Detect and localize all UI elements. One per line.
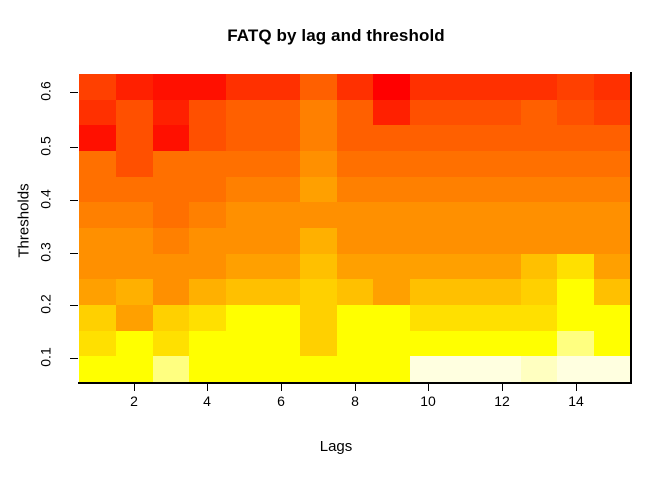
heatmap-cell <box>447 254 484 280</box>
heatmap-cell <box>447 177 484 203</box>
heatmap-cell <box>263 305 300 331</box>
heatmap-cell <box>153 151 190 177</box>
heatmap-cell <box>153 305 190 331</box>
heatmap-cell <box>521 125 558 151</box>
y-axis-tick <box>70 200 78 201</box>
heatmap-cell <box>300 151 337 177</box>
y-axis-tick <box>70 305 78 306</box>
heatmap-cell <box>263 100 300 126</box>
x-axis-tick <box>428 383 429 391</box>
heatmap-cell <box>410 228 447 254</box>
heatmap-cell <box>226 202 263 228</box>
heatmap-cell <box>79 151 116 177</box>
heatmap-cell <box>447 151 484 177</box>
heatmap-cell <box>337 74 374 100</box>
heatmap-cell <box>226 228 263 254</box>
heatmap-cell <box>300 356 337 382</box>
heatmap-cell <box>484 254 521 280</box>
heatmap-cell <box>116 100 153 126</box>
heatmap-cell <box>594 356 631 382</box>
heatmap-cell <box>79 74 116 100</box>
heatmap-cell <box>521 356 558 382</box>
heatmap-cell <box>189 100 226 126</box>
heatmap-cell <box>484 331 521 357</box>
heatmap-cell <box>116 356 153 382</box>
heatmap-cell <box>116 279 153 305</box>
heatmap-cell <box>116 125 153 151</box>
heatmap-cell <box>226 125 263 151</box>
heatmap-cell <box>373 305 410 331</box>
heatmap-cell <box>116 228 153 254</box>
heatmap-cell <box>373 228 410 254</box>
heatmap-cell <box>153 177 190 203</box>
heatmap-cell <box>300 305 337 331</box>
heatmap-cell <box>594 125 631 151</box>
y-axis-tick <box>70 358 78 359</box>
heatmap-cell <box>116 177 153 203</box>
heatmap-cell <box>557 331 594 357</box>
y-axis-tick-label: 0.1 <box>26 349 66 365</box>
heatmap-cell <box>226 177 263 203</box>
heatmap-cell <box>521 151 558 177</box>
heatmap-cell <box>189 279 226 305</box>
heatmap-cell <box>410 177 447 203</box>
heatmap-cell <box>263 177 300 203</box>
heatmap-cell <box>189 254 226 280</box>
heatmap-cell <box>337 228 374 254</box>
heatmap-cell <box>116 74 153 100</box>
y-axis-tick <box>70 253 78 254</box>
heatmap-cell <box>410 356 447 382</box>
heatmap-cell <box>521 100 558 126</box>
heatmap-cell <box>300 331 337 357</box>
heatmap-cell <box>79 331 116 357</box>
heatmap-cell <box>594 74 631 100</box>
heatmap-cell <box>557 228 594 254</box>
x-axis-tick <box>355 383 356 391</box>
x-axis-tick-label: 2 <box>114 393 154 409</box>
heatmap-cell <box>447 331 484 357</box>
heatmap-cell <box>373 202 410 228</box>
heatmap-cell <box>410 254 447 280</box>
panel-right-border <box>630 72 632 384</box>
heatmap-cell <box>189 356 226 382</box>
heatmap-cell <box>410 100 447 126</box>
heatmap-cell <box>521 279 558 305</box>
x-axis-tick-label: 10 <box>408 393 448 409</box>
heatmap-cell <box>300 228 337 254</box>
heatmap-cell <box>263 331 300 357</box>
heatmap-cell <box>300 177 337 203</box>
heatmap-cell <box>153 74 190 100</box>
heatmap-cell <box>79 228 116 254</box>
heatmap-cell <box>484 356 521 382</box>
heatmap-cell <box>521 74 558 100</box>
heatmap-cell <box>410 279 447 305</box>
x-axis-tick <box>502 383 503 391</box>
heatmap-cell <box>557 151 594 177</box>
heatmap-cell <box>263 125 300 151</box>
heatmap-cell <box>153 228 190 254</box>
heatmap-cell <box>79 125 116 151</box>
heatmap-cell <box>373 279 410 305</box>
heatmap-cell <box>153 279 190 305</box>
heatmap-cell <box>116 202 153 228</box>
heatmap-cell <box>116 254 153 280</box>
heatmap-panel <box>79 74 631 382</box>
heatmap-cell <box>189 151 226 177</box>
heatmap-cell <box>557 202 594 228</box>
heatmap-cell <box>337 151 374 177</box>
heatmap-cell <box>337 356 374 382</box>
y-axis-tick-label: 0.6 <box>26 83 66 99</box>
x-axis-title: Lags <box>0 438 672 455</box>
x-axis-tick <box>134 383 135 391</box>
heatmap-cell <box>79 100 116 126</box>
y-axis-tick <box>70 147 78 148</box>
heatmap-cell <box>484 125 521 151</box>
heatmap-cell <box>263 74 300 100</box>
heatmap-cell <box>521 177 558 203</box>
heatmap-cell <box>79 279 116 305</box>
heatmap-cell <box>410 331 447 357</box>
heatmap-cell <box>337 331 374 357</box>
heatmap-cell <box>557 74 594 100</box>
y-axis-title: Thresholds <box>16 141 33 301</box>
heatmap-cell <box>337 100 374 126</box>
page-title: FATQ by lag and threshold <box>0 26 672 46</box>
heatmap-cell <box>79 177 116 203</box>
heatmap-cell <box>189 74 226 100</box>
heatmap-cell <box>300 279 337 305</box>
x-axis-tick-label: 14 <box>556 393 596 409</box>
heatmap-cell <box>300 100 337 126</box>
heatmap-cell <box>337 254 374 280</box>
heatmap-cell <box>410 202 447 228</box>
heatmap-cell <box>521 202 558 228</box>
heatmap-cell <box>594 202 631 228</box>
heatmap-cell <box>153 202 190 228</box>
heatmap-cell <box>373 356 410 382</box>
heatmap-cell <box>373 177 410 203</box>
heatmap-cell <box>594 305 631 331</box>
heatmap-cell <box>373 331 410 357</box>
heatmap-cell <box>79 356 116 382</box>
heatmap-cell <box>521 228 558 254</box>
heatmap-cell <box>557 279 594 305</box>
heatmap-cell <box>226 100 263 126</box>
heatmap-cell <box>263 254 300 280</box>
heatmap-cell <box>447 228 484 254</box>
heatmap-cell <box>557 125 594 151</box>
heatmap-cell <box>594 151 631 177</box>
heatmap-cell <box>594 254 631 280</box>
heatmap-cell <box>373 100 410 126</box>
heatmap-cell <box>484 202 521 228</box>
heatmap-cell <box>484 74 521 100</box>
heatmap-cell <box>373 74 410 100</box>
heatmap-cell <box>300 74 337 100</box>
x-axis-tick <box>576 383 577 391</box>
heatmap-cell <box>484 228 521 254</box>
heatmap-cell <box>447 305 484 331</box>
x-axis-tick-label: 4 <box>187 393 227 409</box>
heatmap-cell <box>263 151 300 177</box>
heatmap-cell <box>484 100 521 126</box>
heatmap-cell <box>189 305 226 331</box>
heatmap-cell <box>594 177 631 203</box>
heatmap-cell <box>337 125 374 151</box>
heatmap-cell <box>79 254 116 280</box>
heatmap-cell <box>447 279 484 305</box>
heatmap-cell <box>153 356 190 382</box>
x-axis-tick-label: 6 <box>261 393 301 409</box>
heatmap-cell <box>521 305 558 331</box>
heatmap-cell <box>189 177 226 203</box>
heatmap-cell <box>300 254 337 280</box>
heatmap-cell <box>226 74 263 100</box>
heatmap-cell <box>521 331 558 357</box>
heatmap-cell <box>447 100 484 126</box>
heatmap-cell <box>410 305 447 331</box>
heatmap-cell <box>557 305 594 331</box>
heatmap-cell <box>484 177 521 203</box>
heatmap-cell <box>373 151 410 177</box>
heatmap-cell <box>153 100 190 126</box>
heatmap-cell <box>484 305 521 331</box>
heatmap-cell <box>410 151 447 177</box>
heatmap-cell <box>447 125 484 151</box>
heatmap-grid <box>79 74 631 382</box>
heatmap-cell <box>557 100 594 126</box>
heatmap-cell <box>226 356 263 382</box>
heatmap-cell <box>226 331 263 357</box>
heatmap-cell <box>557 254 594 280</box>
heatmap-cell <box>189 125 226 151</box>
heatmap-cell <box>484 151 521 177</box>
heatmap-cell <box>557 356 594 382</box>
heatmap-cell <box>594 228 631 254</box>
heatmap-cell <box>594 279 631 305</box>
heatmap-cell <box>189 331 226 357</box>
heatmap-cell <box>226 305 263 331</box>
x-axis-tick-label: 12 <box>482 393 522 409</box>
heatmap-cell <box>447 202 484 228</box>
heatmap-cell <box>373 254 410 280</box>
heatmap-cell <box>484 279 521 305</box>
heatmap-cell <box>153 331 190 357</box>
heatmap-cell <box>300 125 337 151</box>
heatmap-cell <box>300 202 337 228</box>
heatmap-cell <box>153 125 190 151</box>
chart-canvas: FATQ by lag and threshold 2468101214 0.1… <box>0 0 672 480</box>
heatmap-cell <box>447 356 484 382</box>
heatmap-cell <box>337 202 374 228</box>
heatmap-cell <box>226 254 263 280</box>
y-axis-tick <box>70 92 78 93</box>
heatmap-cell <box>263 279 300 305</box>
heatmap-cell <box>263 202 300 228</box>
heatmap-cell <box>410 74 447 100</box>
heatmap-cell <box>521 254 558 280</box>
heatmap-cell <box>79 202 116 228</box>
heatmap-cell <box>116 331 153 357</box>
heatmap-cell <box>189 202 226 228</box>
heatmap-cell <box>263 228 300 254</box>
heatmap-cell <box>116 151 153 177</box>
heatmap-cell <box>337 279 374 305</box>
heatmap-cell <box>226 151 263 177</box>
heatmap-cell <box>116 305 153 331</box>
heatmap-cell <box>337 177 374 203</box>
heatmap-cell <box>337 305 374 331</box>
heatmap-cell <box>79 305 116 331</box>
heatmap-cell <box>447 74 484 100</box>
heatmap-cell <box>226 279 263 305</box>
heatmap-cell <box>594 331 631 357</box>
x-axis-tick-label: 8 <box>335 393 375 409</box>
heatmap-cell <box>410 125 447 151</box>
x-axis-tick <box>281 383 282 391</box>
heatmap-cell <box>263 356 300 382</box>
heatmap-cell <box>153 254 190 280</box>
heatmap-cell <box>373 125 410 151</box>
x-axis-tick <box>207 383 208 391</box>
heatmap-cell <box>594 100 631 126</box>
heatmap-cell <box>189 228 226 254</box>
heatmap-cell <box>557 177 594 203</box>
